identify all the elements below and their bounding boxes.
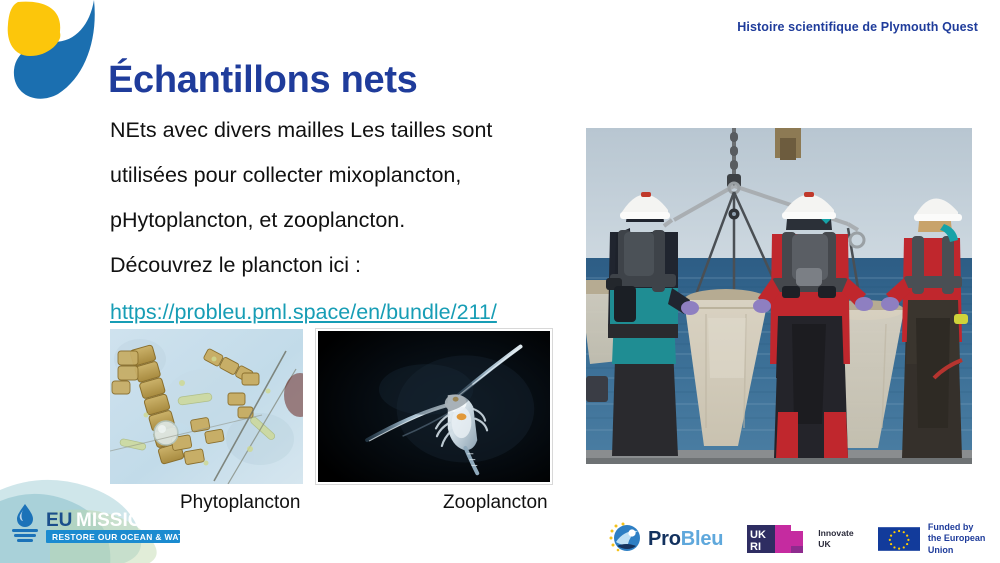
eu-funding-logo: Funded by the European Union <box>878 522 1000 557</box>
header-kicker: Histoire scientifique de Plymouth Quest <box>737 20 978 34</box>
body-line-2: utilisées pour collecter mixoplancton, <box>110 153 580 198</box>
pml-leaf-logo-icon <box>6 0 102 102</box>
caption-zooplancton: Zooplancton <box>443 492 548 514</box>
eu-missions-decoration: EU MISSIONS RESTORE OUR OCEAN & WATERS E… <box>0 472 225 563</box>
probleu-pro-text: Pro <box>648 528 681 550</box>
eu-missions-logo: EU MISSIONS RESTORE OUR OCEAN & WATERS <box>8 502 180 544</box>
svg-text:UK: UK <box>750 529 766 541</box>
svg-text:RI: RI <box>750 541 761 553</box>
svg-text:RESTORE OUR OCEAN & WATERS: RESTORE OUR OCEAN & WATERS <box>52 532 180 542</box>
ukri-square-icon: UK RI <box>747 522 811 556</box>
innovate-uk-wordmark: Innovate UK <box>818 528 853 550</box>
eu-funding-wordmark: Funded by the European Union <box>928 522 1000 557</box>
zooplankton-photo <box>316 329 552 484</box>
plankton-net-photo <box>586 128 972 464</box>
innovate-uk-logo: UK RI Innovate UK <box>747 522 853 556</box>
svg-text:MISSIONS: MISSIONS <box>76 510 169 531</box>
body-line-3: pHytoplancton, et zooplancton. <box>110 198 580 243</box>
probleu-swirl-icon <box>608 522 644 556</box>
phytoplankton-photo <box>110 329 303 484</box>
water-droplet-icon <box>12 504 38 542</box>
footer-logo-strip: ProBleu UK RI Innovate UK <box>608 518 1000 560</box>
page-title: Échantillons nets <box>108 61 418 101</box>
body-line-1: NEts avec divers mailles Les tailles son… <box>110 108 580 153</box>
probleu-logo: ProBleu <box>608 522 723 556</box>
body-text-block: NEts avec divers mailles Les tailles son… <box>110 108 580 335</box>
svg-text:EU: EU <box>46 510 72 531</box>
innovate-uk-line2: UK <box>818 539 853 550</box>
probleu-wordmark: ProBleu <box>648 528 723 551</box>
eu-flag-icon <box>878 522 920 556</box>
eu-funding-line2: the European Union <box>928 533 1000 556</box>
probleu-bleu-text: Bleu <box>681 528 724 550</box>
body-line-4: Découvrez le plancton ici : <box>110 243 580 288</box>
slide-canvas: Histoire scientifique de Plymouth Quest … <box>0 0 1000 563</box>
eu-funding-line1: Funded by <box>928 522 1000 534</box>
innovate-uk-line1: Innovate <box>818 528 853 539</box>
